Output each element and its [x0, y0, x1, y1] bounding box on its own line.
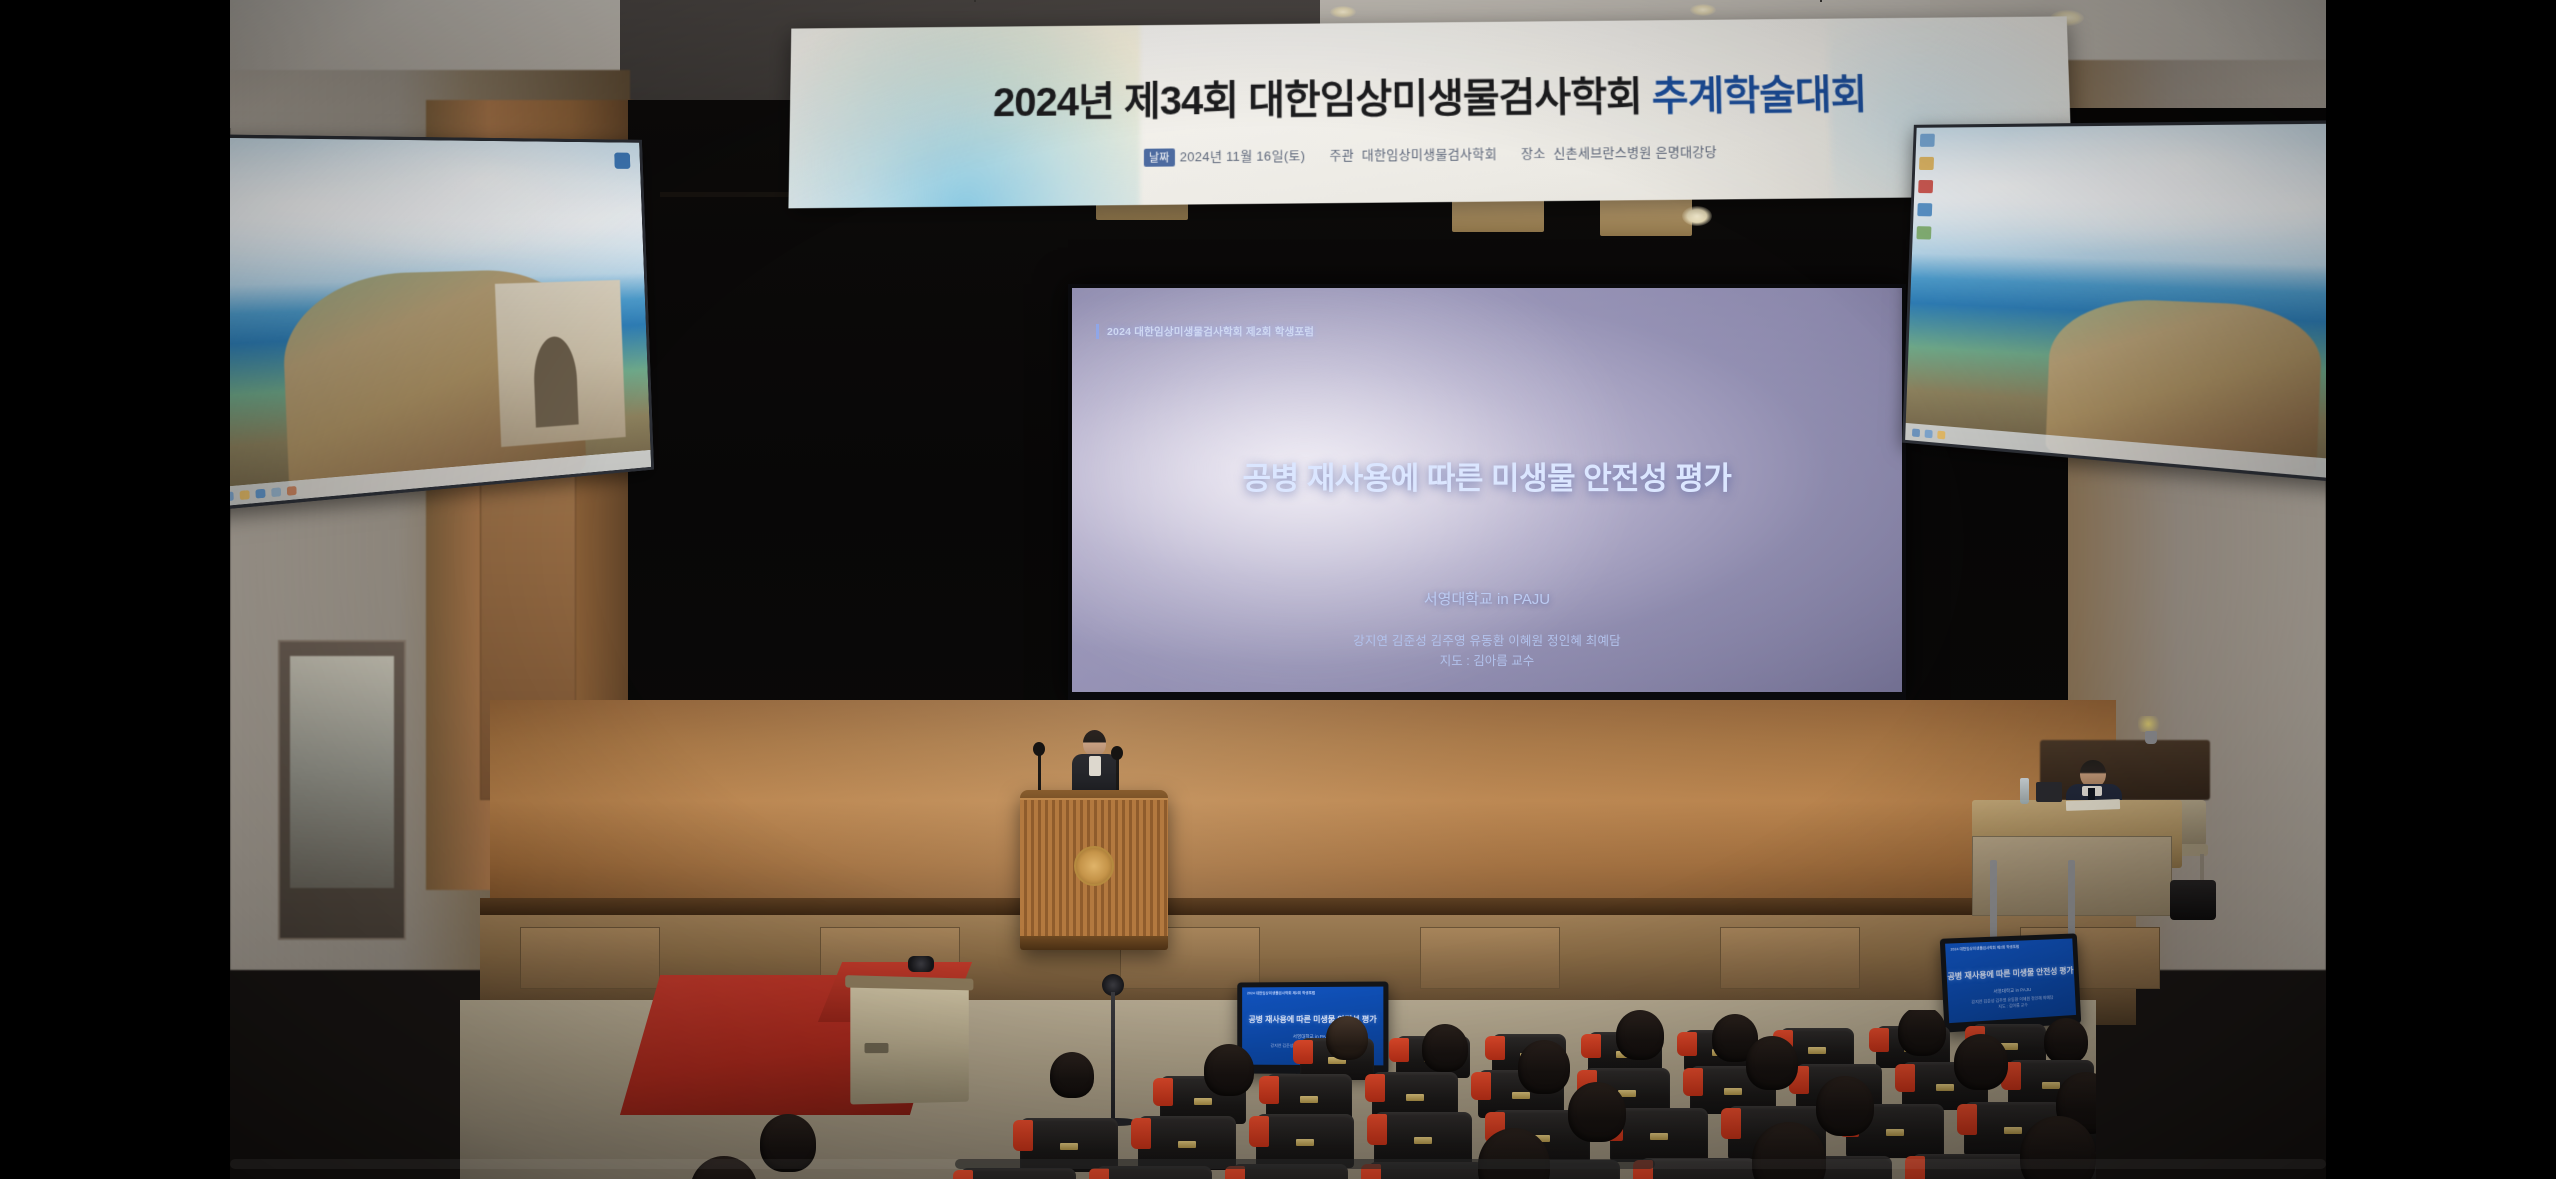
stage-floor-reflection [490, 700, 2116, 910]
audience-head [1898, 1010, 1946, 1056]
documents [2066, 799, 2120, 811]
horizontal-scrollbar-thumb[interactable] [955, 1159, 1655, 1169]
flower-vase [2145, 731, 2157, 744]
seat-number-plate [1296, 1139, 1314, 1146]
audience-head [1204, 1044, 1254, 1096]
audience-head [1326, 1016, 1368, 1060]
seat-number-plate [1406, 1094, 1424, 1101]
ceiling-downlight [1330, 6, 1356, 18]
seat-armrest [1259, 1076, 1279, 1104]
seat-armrest [1249, 1116, 1269, 1147]
seat-number-plate [2004, 1127, 2022, 1134]
my-computer-icon[interactable] [1920, 134, 1935, 147]
podium-top-surface [1020, 790, 1168, 798]
seat-armrest [953, 1170, 973, 1179]
stage-facade-panel [520, 927, 660, 989]
banner-place-tag: 장소 [1521, 146, 1546, 161]
banner-date-value: 2024년 11월 16일(토) [1180, 148, 1306, 164]
lectern-top [845, 975, 973, 990]
podium-emblem [1074, 846, 1114, 886]
folder-icon[interactable] [1919, 157, 1934, 170]
slide-kicker: 2024 대한임상미생물검사학회 제2회 학생포럼 [1096, 324, 1314, 339]
seat-number-plate [1808, 1047, 1826, 1054]
catwalk-box [1600, 198, 1692, 236]
banner-date-tag: 날짜 [1144, 148, 1175, 166]
desktop-icon-column[interactable] [1916, 134, 1945, 240]
seat-armrest [1389, 1038, 1409, 1062]
slide-authors: 강지연 김준성 김주영 유동환 이혜원 정인혜 최예담 [1072, 630, 1902, 649]
podium-mic-head [1033, 742, 1045, 756]
ceiling-downlight [1690, 4, 1716, 16]
audience-head [1050, 1052, 1094, 1098]
slide-title: 공병 재사용에 따른 미생물 안전성 평가 [1072, 453, 1902, 498]
seat-number-plate [1724, 1088, 1742, 1095]
conference-banner: 2024년 제34회 대한임상미생물검사학회 추계학술대회 날짜2024년 11… [788, 16, 2073, 208]
floor-microphone-head [908, 956, 934, 972]
wallpaper-bridge-arch [533, 335, 579, 427]
seat-armrest [1365, 1074, 1385, 1102]
audience-head [1816, 1076, 1874, 1136]
right-wall-display[interactable] [1902, 120, 2326, 484]
seat-armrest [1869, 1028, 1889, 1052]
seat-armrest [1013, 1120, 1033, 1151]
seat [1374, 1112, 1472, 1166]
seat-number-plate [1414, 1137, 1432, 1144]
presenter-head [1083, 730, 1106, 756]
desk-leg [1990, 860, 1997, 938]
laptop [2036, 782, 2062, 802]
desk-leg [2068, 860, 2075, 938]
audience-head [1746, 1036, 1798, 1090]
door-glass [290, 656, 394, 888]
audience-head [1616, 1010, 1664, 1060]
seat-armrest [1153, 1078, 1173, 1106]
seat-armrest [1471, 1072, 1491, 1100]
monitor-slide-kicker: 2024 대한임상미생물검사학회 제2회 학생포럼 [1247, 991, 1315, 996]
seat-number-plate [1178, 1141, 1196, 1148]
podium-base [1020, 936, 1168, 950]
seat-armrest [1683, 1068, 1703, 1096]
photo-image[interactable]: 2024년 제34회 대한임상미생물검사학회 추계학술대회 날짜2024년 11… [230, 0, 2326, 1179]
banner-hanging-rope [974, 0, 976, 2]
monitor-slide-kicker: 2024 대한임상미생물검사학회 제2회 학생포럼 [1950, 945, 2019, 953]
projection-screen[interactable]: 2024 대한임상미생물검사학회 제2회 학생포럼 공병 재사용에 따른 미생물… [1072, 288, 1902, 692]
seat-armrest [1721, 1108, 1741, 1139]
audience-head [1954, 1034, 2008, 1090]
podium-mic-head [1111, 746, 1123, 760]
presenter-shirt [1089, 756, 1101, 776]
stage-facade-panel [1720, 927, 1860, 989]
app-icon[interactable] [287, 485, 297, 495]
app-icon[interactable] [1916, 226, 1931, 239]
audience-head [1518, 1040, 1570, 1094]
explorer-icon[interactable] [240, 490, 250, 500]
seat-armrest [1677, 1032, 1697, 1056]
seat-number-plate [1512, 1092, 1530, 1099]
slide-advisor: 지도 : 김아름 교수 [1072, 650, 1902, 669]
seat-number-plate [1936, 1084, 1954, 1091]
seat-armrest [1293, 1040, 1313, 1064]
seat-armrest [1581, 1034, 1601, 1058]
banner-title-main: 2024년 제34회 대한임상미생물검사학회 [993, 75, 1652, 125]
banner-place-value: 신촌세브란스병원 은명대강당 [1553, 144, 1717, 161]
seat-number-plate [1194, 1098, 1212, 1105]
slide-organization: 서영대학교 in PAJU [1072, 588, 1902, 609]
banner-host-tag: 주관 [1329, 148, 1354, 163]
banner-host-value: 대한임상미생물검사학회 [1362, 146, 1497, 162]
stage-floor [490, 700, 2116, 910]
seat-armrest [1089, 1168, 1109, 1179]
speaker-podium [1020, 790, 1168, 950]
wallpaper-clouds [1911, 123, 2326, 288]
flower-blooms [2138, 716, 2164, 732]
seat-number-plate [2042, 1082, 2060, 1089]
wallpaper-bridge [495, 280, 626, 447]
banner-hanging-rope [1820, 0, 1822, 2]
audience-head [1568, 1082, 1626, 1142]
banner-title: 2024년 제34회 대한임상미생물검사학회 추계학술대회 [790, 60, 2071, 130]
stage-monitor-speaker [2170, 880, 2216, 920]
audience-head [1422, 1024, 1468, 1072]
browser-icon[interactable] [255, 488, 265, 498]
seat-number-plate [1060, 1143, 1078, 1150]
flower-arrangement [2138, 716, 2164, 744]
explorer-icon[interactable] [1937, 430, 1945, 439]
seat-armrest [1131, 1118, 1151, 1149]
seat [960, 1168, 1076, 1179]
stage-facade-panel [1420, 927, 1560, 989]
start-icon[interactable] [1912, 428, 1920, 437]
seat-armrest [1957, 1104, 1977, 1135]
seat-armrest [1367, 1114, 1387, 1145]
left-wall-display[interactable] [230, 134, 654, 512]
stage-spotlight [1682, 206, 1712, 226]
seat-number-plate [1300, 1096, 1318, 1103]
side-exit-door [278, 640, 406, 940]
banner-title-accent: 추계학술대회 [1651, 73, 1867, 119]
search-icon[interactable] [230, 491, 234, 501]
water-bottle [2020, 778, 2029, 804]
seat-armrest [1895, 1064, 1915, 1092]
windows-logo-icon [614, 153, 630, 169]
monitor-slide-title: 공병 재사용에 따른 미생물 안전성 평가 [1946, 964, 2074, 981]
seat-armrest [1485, 1036, 1505, 1060]
search-icon[interactable] [1925, 429, 1933, 438]
seat-number-plate [1886, 1129, 1904, 1136]
browser-icon[interactable] [1917, 203, 1932, 216]
seat-number-plate [1650, 1133, 1668, 1140]
screenshot-root: 2024년 제34회 대한임상미생물검사학회 추계학술대회 날짜2024년 11… [0, 0, 2556, 1179]
audience-seating [460, 1010, 2096, 1179]
pdf-icon[interactable] [1918, 180, 1933, 193]
app-icon[interactable] [271, 487, 281, 497]
audience-head [2044, 1018, 2088, 1064]
